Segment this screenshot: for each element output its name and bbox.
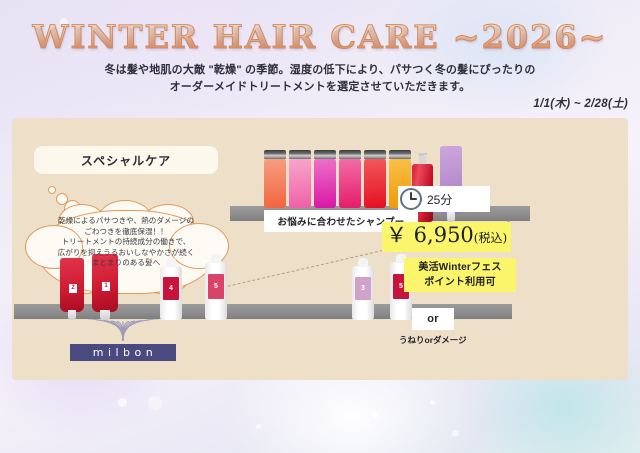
bokeh-dot [372,412,378,418]
tube-number-tag: 1 [102,282,110,291]
shampoo-bottle-coral [264,150,286,208]
shampoo-bottle-red [364,150,386,208]
bubble-dot-small [48,186,56,194]
bubble-text: 乾燥によるパサつきや、熱のダメージの ごわつきを徹底保湿！！ トリートメントの持… [40,216,212,269]
pump-cap [358,258,369,267]
duration-row: 25分 [398,186,490,212]
bottle-body [314,158,336,208]
pump-number-tag: 5 [208,274,224,299]
bottle-cap [264,150,286,159]
pump-number-tag: 4 [163,277,179,301]
bokeh-dot [430,400,435,405]
tube-cap [100,310,109,320]
offer-card: スペシャルケア 乾燥によるパサつきや、熱のダメージの ごわつきを徹底保湿！！ ト… [12,118,628,380]
bottle-cap [339,150,361,159]
points-badge: 美活Winterフェス ポイント利用可 [404,258,516,292]
price-amount: ￥ 6,950 [386,223,474,247]
clock-center-dot [410,198,412,200]
subtitle-line-1: 冬は髪や地肌の大敵 "乾燥" の季節。湿度の低下により、パサつく冬の髪にぴったり… [0,62,640,79]
price-tax-note: (税込) [474,231,507,245]
bokeh-dot [118,398,127,407]
special-care-badge: スペシャルケア [34,146,218,174]
tube-number-tag: 2 [69,284,77,293]
page-title: WINTER HAIR CARE ~2026~ [0,18,640,56]
campaign-period: 1/1(木) ~ 2/28(土) [533,95,628,111]
or-caption: or [412,308,454,330]
bottle-body [339,158,361,208]
shampoo-bottle-magenta [314,150,336,208]
uneri-damage-caption: うねりorダメージ [399,334,509,346]
poster-canvas: WINTER HAIR CARE ~2026~ 冬は髪や地肌の大敵 "乾燥" の… [0,0,640,453]
points-line-1: 美活Winterフェス [404,260,516,275]
bottle-cap [314,150,336,159]
milbon-wordmark: milbon [70,344,176,361]
bubble-line-1: 乾燥によるパサつきや、熱のダメージの [40,216,212,227]
subtitle-line-2: オーダーメイドトリートメントを選定させていただきます。 [0,79,640,96]
bubble-line-5: まとまりのある髪へ [40,258,212,269]
pump-number-tag: 3 [355,277,371,301]
thought-bubble: 乾燥によるパサつきや、熱のダメージの ごわつきを徹底保湿！！ トリートメントの持… [24,186,224,296]
milbon-logo: milbon [70,316,176,361]
bubble-line-4: 広がりを抑えうるおいしなやかさが続く [40,248,212,259]
price-label: ￥ 6,950(税込) [382,222,511,252]
pump-cap [211,254,222,263]
bottle-body [289,158,311,208]
bottle-cap [389,150,411,159]
bottle-cap [289,150,311,159]
shampoo-bottle-hotpink [339,150,361,208]
tube-cap [447,212,455,222]
bokeh-dot [148,396,162,410]
duration-label: 25分 [427,191,452,208]
bokeh-dot [256,424,261,429]
bottle-cap [364,150,386,159]
shampoo-bottle-pink [289,150,311,208]
bottle-body [264,158,286,208]
bubble-line-2: ごわつきを徹底保湿！！ [40,227,212,238]
white-bottle-3: 3 [352,258,374,320]
tube-cap [68,310,77,320]
page-subtitle: 冬は髪や地肌の大敵 "乾燥" の季節。湿度の低下により、パサつく冬の髪にぴったり… [0,62,640,96]
bubble-line-3: トリートメントの持続成分の働きで、 [40,237,212,248]
bokeh-dot [452,430,459,437]
bottle-body [364,158,386,208]
clock-icon [400,188,422,210]
points-line-2: ポイント利用可 [404,275,516,290]
